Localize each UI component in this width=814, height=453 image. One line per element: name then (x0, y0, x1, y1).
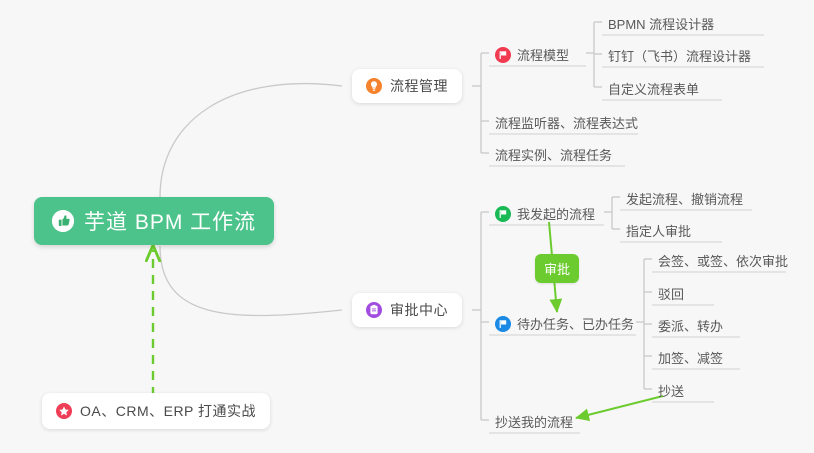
node-label: 待办任务、已办任务 (517, 314, 634, 333)
mindmap-canvas: 芋道 BPM 工作流 流程管理 流程模型 BPMN 流程设计器 钉钉（飞书）流程… (0, 0, 814, 453)
branch-process-management[interactable]: 流程管理 (352, 69, 462, 103)
node-bpmn-designer[interactable]: BPMN 流程设计器 (602, 11, 720, 38)
node-label: 委派、转办 (658, 316, 723, 335)
node-label: 加签、减签 (658, 348, 723, 367)
node-label: 流程模型 (517, 45, 569, 64)
node-add-remove-sign[interactable]: 加签、减签 (652, 345, 729, 372)
node-label: 流程实例、流程任务 (495, 145, 612, 164)
node-label: 驳回 (658, 284, 684, 303)
node-todo-done-tasks[interactable]: 待办任务、已办任务 (489, 311, 640, 338)
branch-approval-center[interactable]: 审批中心 (352, 293, 462, 327)
lightbulb-icon (366, 78, 382, 94)
node-dingtalk-feishu-designer[interactable]: 钉钉（飞书）流程设计器 (602, 43, 757, 70)
flag-icon (495, 206, 511, 222)
link-root-to-process-management (160, 84, 342, 197)
node-label: 自定义流程表单 (608, 79, 699, 98)
node-cc-to-me-process[interactable]: 抄送我的流程 (489, 409, 579, 436)
node-start-cancel-process[interactable]: 发起流程、撤销流程 (620, 186, 749, 213)
node-label: 指定人审批 (626, 221, 691, 240)
node-label: BPMN 流程设计器 (608, 14, 714, 33)
node-label: 抄送 (658, 381, 684, 400)
root-label: 芋道 BPM 工作流 (84, 206, 256, 236)
branch-label: 流程管理 (390, 76, 448, 96)
node-reject[interactable]: 驳回 (652, 281, 690, 308)
annotation-approval-tag: 审批 (535, 254, 579, 283)
link-root-to-approval-center (160, 246, 342, 316)
annotation-label: 审批 (544, 262, 570, 277)
node-custom-process-form[interactable]: 自定义流程表单 (602, 76, 705, 103)
node-cc[interactable]: 抄送 (652, 378, 690, 405)
thumbs-up-icon (52, 210, 74, 232)
clipboard-icon (366, 302, 382, 318)
bottom-card-integration-practice[interactable]: OA、CRM、ERP 打通实战 (42, 393, 270, 429)
node-label: 流程监听器、流程表达式 (495, 113, 638, 132)
node-delegate-transfer[interactable]: 委派、转办 (652, 313, 729, 340)
node-label: 发起流程、撤销流程 (626, 189, 743, 208)
root-node[interactable]: 芋道 BPM 工作流 (34, 197, 274, 245)
flag-icon (495, 316, 511, 332)
node-process-listener-expression[interactable]: 流程监听器、流程表达式 (489, 110, 644, 137)
arrow-cc-to-my-cc-process (576, 396, 663, 418)
node-process-instance-task[interactable]: 流程实例、流程任务 (489, 142, 618, 169)
node-process-model[interactable]: 流程模型 (489, 42, 575, 69)
bottom-card-label: OA、CRM、ERP 打通实战 (80, 401, 256, 421)
node-label: 钉钉（飞书）流程设计器 (608, 46, 751, 65)
star-icon (56, 403, 72, 419)
node-label: 抄送我的流程 (495, 412, 573, 431)
node-label: 我发起的流程 (517, 204, 595, 223)
node-my-initiated-process[interactable]: 我发起的流程 (489, 201, 601, 228)
flag-icon (495, 47, 511, 63)
node-assignee-approval[interactable]: 指定人审批 (620, 218, 697, 245)
node-label: 会签、或签、依次审批 (658, 251, 788, 270)
branch-label: 审批中心 (390, 300, 448, 320)
node-countersign-orsign-sequential[interactable]: 会签、或签、依次审批 (652, 248, 794, 275)
